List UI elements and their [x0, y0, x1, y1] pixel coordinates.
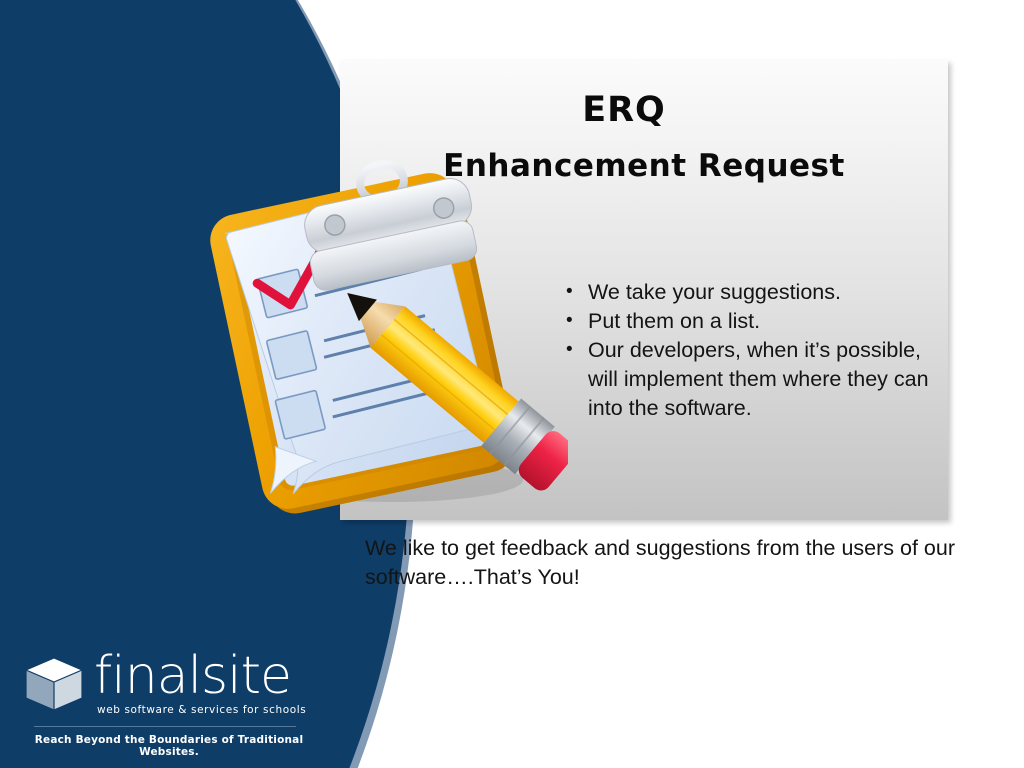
list-item: Put them on a list. [562, 307, 932, 336]
clipboard-checklist-icon [178, 150, 568, 520]
finalsite-logo: finalsite web software & services for sc… [22, 648, 322, 758]
slide-canvas: ERQ Enhancement Request We take your sug… [0, 0, 1024, 768]
logo-slogan: Reach Beyond the Boundaries of Tradition… [28, 734, 310, 758]
cube-icon [22, 654, 86, 716]
caption-text: We like to get feedback and suggestions … [365, 534, 965, 592]
page-title: ERQ [340, 90, 908, 130]
bullet-list: We take your suggestions. Put them on a … [562, 278, 932, 423]
logo-divider [34, 726, 296, 727]
logo-wordmark: finalsite [94, 650, 291, 702]
logo-tagline: web software & services for schools [97, 704, 306, 716]
list-item: Our developers, when it’s possible, will… [562, 336, 932, 423]
list-item: We take your suggestions. [562, 278, 932, 307]
